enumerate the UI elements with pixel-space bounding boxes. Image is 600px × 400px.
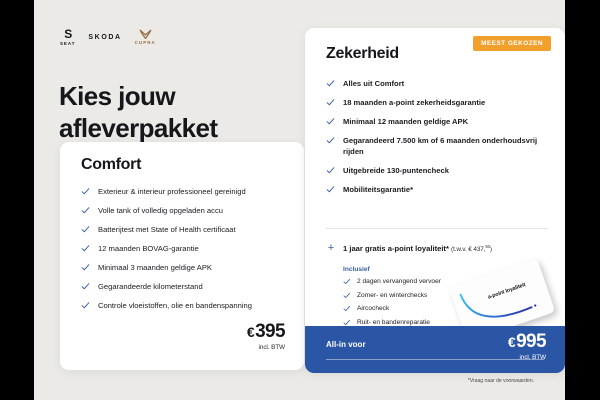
list-item-label: Minimaal 3 maanden geldige APK [98, 263, 212, 272]
section-divider [326, 228, 548, 229]
cupra-logo: CUPRA [135, 29, 156, 45]
list-item: Alles uit Comfort [326, 78, 548, 89]
bonus-value-suffix: ) [490, 246, 492, 253]
list-item-label: Mobiliteitsgarantie* [343, 185, 413, 194]
comfort-price-value: 395 [255, 321, 285, 342]
check-icon [81, 206, 90, 215]
list-item-label: 18 maanden a-point zekerheidsgarantie [343, 98, 485, 107]
zekerheid-title: Zekerheid [326, 45, 399, 63]
seat-logo-wordmark: SEAT [60, 41, 75, 46]
list-item-label: Volle tank of volledig opgeladen accu [98, 206, 223, 215]
bonus-label-wrap: 1 jaar gratis a-point loyaliteit* (t.w.v… [326, 244, 554, 254]
bonus-value-prefix: (t.w.v. € 437, [451, 246, 485, 253]
list-item: Batterijtest met State of Health certifi… [81, 224, 277, 235]
list-item: Controle vloeistoffen, olie en bandenspa… [81, 300, 277, 311]
package-card-comfort[interactable]: Comfort Exterieur & interieur profession… [60, 142, 304, 370]
zekerheid-price-footer: All-in voor €995 incl. BTW [305, 326, 565, 373]
list-item-label: Minimaal 12 maanden geldige APK [343, 117, 468, 126]
check-icon [326, 136, 335, 145]
skoda-logo: SKODA [88, 34, 121, 41]
check-icon [326, 185, 335, 194]
list-item-label: Gegarandeerde kilometerstand [98, 282, 203, 291]
comfort-title: Comfort [81, 156, 141, 174]
list-item: Mobiliteitsgarantie* [326, 184, 548, 195]
list-item: Exterieur & interieur professioneel gere… [81, 186, 277, 197]
screenshot-stage: S SEAT SKODA CUPRA Kies jouw afleverpakk… [0, 0, 600, 400]
list-item: 12 maanden BOVAG-garantie [81, 243, 277, 254]
list-item-label: Uitgebreide 130-puntencheck [343, 166, 449, 175]
check-icon [326, 117, 335, 126]
list-item-label: Zomer- en winterchecks [357, 292, 427, 299]
check-icon [81, 282, 90, 291]
list-item-label: Ruit- en bandenreparatie [357, 319, 430, 326]
check-icon [343, 278, 351, 286]
check-icon [326, 166, 335, 175]
check-icon [343, 292, 351, 300]
plus-icon: + [326, 244, 336, 254]
footnote-text: *Vraag naar de voorwaarden. [468, 378, 534, 384]
inclusief-title: Inclusief [343, 266, 493, 273]
content-canvas: S SEAT SKODA CUPRA Kies jouw afleverpakk… [34, 0, 565, 400]
list-item: Gegarandeerd 7.500 km of 6 maanden onder… [326, 135, 548, 157]
list-item-label: 12 maanden BOVAG-garantie [98, 244, 199, 253]
page-title: Kies jouw afleverpakket [59, 81, 309, 143]
cupra-logo-mark [139, 29, 152, 39]
comfort-price-amount: €395 [247, 322, 285, 341]
check-icon [81, 301, 90, 310]
list-item-label: 2 dagen vervangend vervoer [357, 278, 441, 285]
list-item-label: Exterieur & interieur professioneel gere… [98, 187, 246, 196]
zekerheid-feature-list: Alles uit Comfort 18 maanden a-point zek… [326, 78, 548, 203]
check-icon [81, 244, 90, 253]
list-item-label: Alles uit Comfort [343, 79, 404, 88]
check-icon [343, 305, 351, 313]
currency-symbol: € [508, 334, 515, 350]
skoda-logo-wordmark: SKODA [88, 34, 121, 41]
currency-symbol: € [247, 324, 254, 340]
comfort-price-note: incl. BTW [247, 344, 285, 351]
brand-logo-bar: S SEAT SKODA CUPRA [60, 26, 156, 48]
bonus-value: (t.w.v. € 437,50) [451, 246, 492, 253]
comfort-price-block: €395 incl. BTW [247, 322, 285, 351]
check-icon [326, 79, 335, 88]
seat-logo-mark: S [64, 28, 71, 40]
list-item-label: Gegarandeerd 7.500 km of 6 maanden onder… [343, 136, 537, 156]
zekerheid-price-amount: €995 [508, 332, 546, 351]
list-item-label: Controle vloeistoffen, olie en bandenspa… [98, 301, 252, 310]
list-item: Minimaal 3 maanden geldige APK [81, 262, 277, 273]
zekerheid-price-value: 995 [516, 331, 546, 352]
footer-rule [326, 359, 544, 360]
status-badge: MEEST GEKOZEN [473, 36, 551, 51]
list-item-label: Aircocheck [357, 305, 389, 312]
list-item: Gegarandeerde kilometerstand [81, 281, 277, 292]
cupra-logo-wordmark: CUPRA [135, 40, 156, 45]
all-in-label: All-in voor [326, 340, 366, 349]
check-icon [81, 187, 90, 196]
list-item-label: Batterijtest met State of Health certifi… [98, 225, 236, 234]
list-item: Uitgebreide 130-puntencheck [326, 165, 548, 176]
bonus-row: + 1 jaar gratis a-point loyaliteit* (t.w… [326, 244, 554, 254]
check-icon [81, 225, 90, 234]
list-item: 18 maanden a-point zekerheidsgarantie [326, 97, 548, 108]
list-item: Minimaal 12 maanden geldige APK [326, 116, 548, 127]
check-icon [81, 263, 90, 272]
list-item: Volle tank of volledig opgeladen accu [81, 205, 277, 216]
comfort-feature-list: Exterieur & interieur professioneel gere… [81, 186, 277, 319]
zekerheid-price-note: incl. BTW [520, 354, 546, 361]
bonus-label: 1 jaar gratis a-point loyaliteit* [343, 244, 449, 253]
seat-logo: S SEAT [60, 28, 75, 46]
check-icon [326, 98, 335, 107]
package-card-zekerheid[interactable]: MEEST GEKOZEN Zekerheid Alles uit Comfor… [305, 28, 565, 373]
